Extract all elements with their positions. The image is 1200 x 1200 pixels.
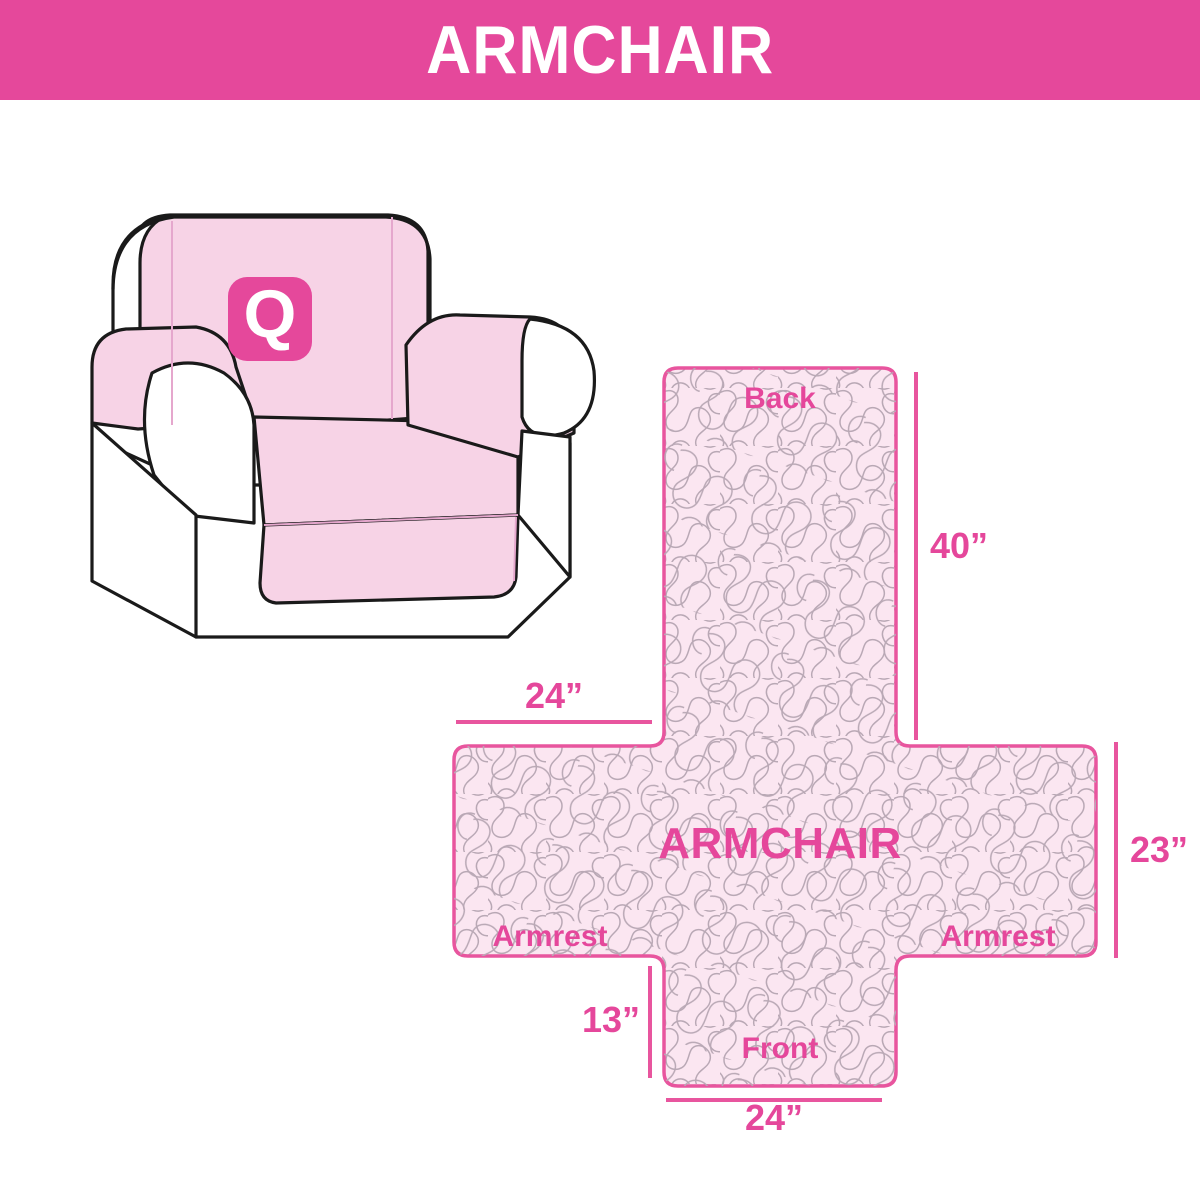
dimension-value-24-top: 24” <box>525 675 583 716</box>
page-root: ARMCHAIR <box>0 0 1200 1200</box>
dimension-front-height: 13” <box>582 966 650 1078</box>
dimension-value-13: 13” <box>582 999 640 1040</box>
dimension-value-40: 40” <box>930 525 988 566</box>
header-banner: ARMCHAIR <box>0 0 1200 100</box>
quilt-texture-overlay <box>454 368 1096 1086</box>
dimension-back-width: 24” <box>456 675 652 722</box>
page-title: ARMCHAIR <box>426 16 774 84</box>
q-logo-letter: Q <box>244 276 297 352</box>
panel-label-armrest-left: Armrest <box>492 920 607 953</box>
dimension-value-23: 23” <box>1130 829 1188 870</box>
dimension-back-height: 40” <box>916 372 988 740</box>
slipcover-dimension-diagram: Back ARMCHAIR Armrest Armrest Front 40” … <box>430 330 1200 1130</box>
panel-label-center: ARMCHAIR <box>658 819 902 868</box>
dimension-value-24-bottom: 24” <box>745 1097 803 1130</box>
slipcover-cross-shape <box>454 368 1096 1086</box>
panel-label-front: Front <box>742 1032 819 1065</box>
q-logo-badge: Q <box>228 276 312 361</box>
dimension-seat-depth: 23” <box>1116 742 1188 958</box>
panel-label-back: Back <box>744 382 816 415</box>
dimension-front-width: 24” <box>666 1097 882 1130</box>
panel-label-armrest-right: Armrest <box>940 920 1055 953</box>
